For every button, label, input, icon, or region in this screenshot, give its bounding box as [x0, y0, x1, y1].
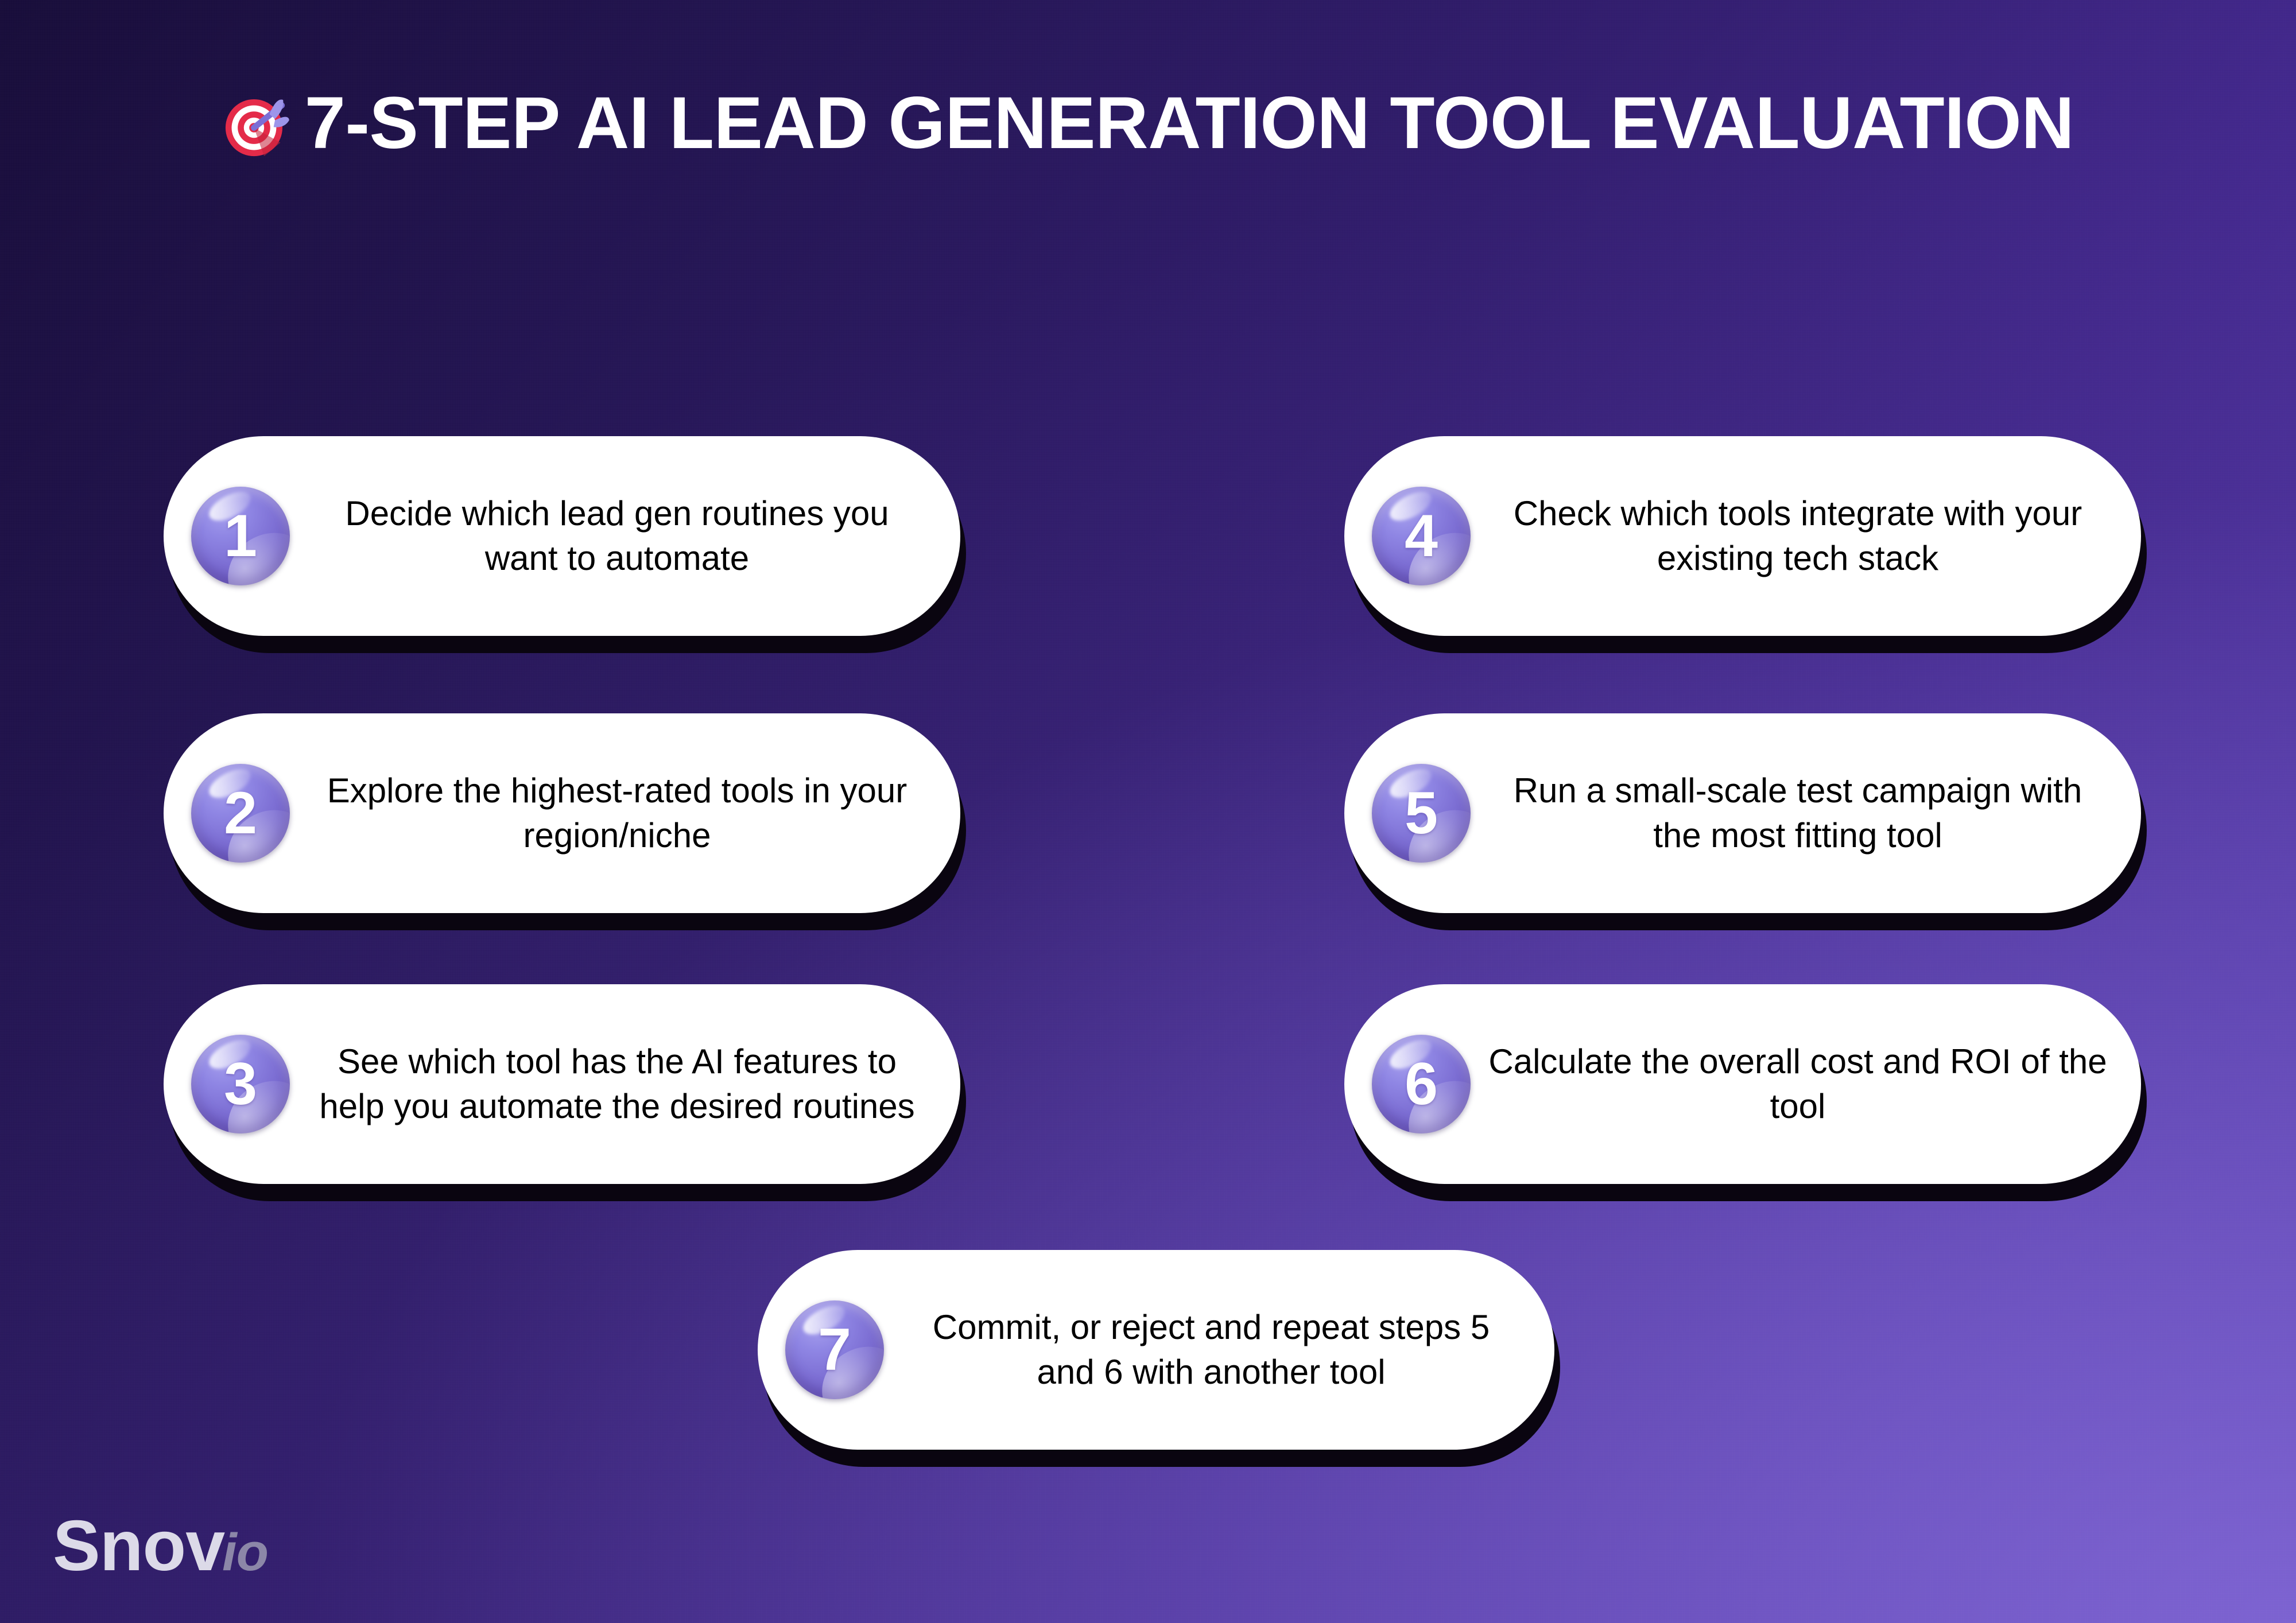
step-number: 2	[224, 783, 257, 843]
step-number-badge: 2	[191, 764, 290, 863]
step-card-3[interactable]: 3 See which tool has the AI features to …	[164, 984, 960, 1184]
step-number-badge: 5	[1372, 764, 1471, 863]
step-number: 3	[224, 1054, 257, 1114]
page-title-text: 7-STEP AI LEAD GENERATION TOOL EVALUATIO…	[138, 75, 2158, 172]
step-card-4[interactable]: 4 Check which tools integrate with your …	[1344, 436, 2141, 636]
logo-main-text: Snov	[53, 1506, 224, 1586]
page-title: 7-STEP AI LEAD GENERATION TOOL EVALUATIO…	[0, 75, 2296, 172]
step-number: 7	[818, 1320, 851, 1380]
step-number: 1	[224, 506, 257, 566]
page-title-line: 7-STEP AI LEAD GENERATION TOOL	[305, 82, 1591, 164]
step-description: Decide which lead gen routines you want …	[290, 491, 960, 581]
step-card-6[interactable]: 6 Calculate the overall cost and ROI of …	[1344, 984, 2141, 1184]
step-description: See which tool has the AI features to he…	[290, 1039, 960, 1129]
step-description: Calculate the overall cost and ROI of th…	[1471, 1039, 2141, 1129]
step-number-badge: 7	[785, 1300, 884, 1399]
step-number: 4	[1405, 506, 1438, 566]
step-description: Commit, or reject and repeat steps 5 and…	[884, 1305, 1554, 1395]
step-card-5[interactable]: 5 Run a small-scale test campaign with t…	[1344, 713, 2141, 913]
step-description: Check which tools integrate with your ex…	[1471, 491, 2141, 581]
logo-suffix-text: io	[222, 1523, 268, 1582]
step-card-1[interactable]: 1 Decide which lead gen routines you wan…	[164, 436, 960, 636]
step-card-2[interactable]: 2 Explore the highest-rated tools in you…	[164, 713, 960, 913]
snovio-logo[interactable]: Snovio	[53, 1511, 268, 1582]
step-description: Run a small-scale test campaign with the…	[1471, 768, 2141, 858]
step-number-badge: 6	[1372, 1035, 1471, 1133]
step-number: 6	[1405, 1054, 1438, 1114]
step-description: Explore the highest-rated tools in your …	[290, 768, 960, 858]
step-number-badge: 4	[1372, 487, 1471, 585]
dart-target-icon	[222, 86, 290, 154]
step-number: 5	[1405, 783, 1438, 843]
step-number-badge: 1	[191, 487, 290, 585]
page-title-line: EVALUATION	[1610, 82, 2074, 164]
step-number-badge: 3	[191, 1035, 290, 1133]
step-card-7[interactable]: 7 Commit, or reject and repeat steps 5 a…	[758, 1250, 1554, 1450]
